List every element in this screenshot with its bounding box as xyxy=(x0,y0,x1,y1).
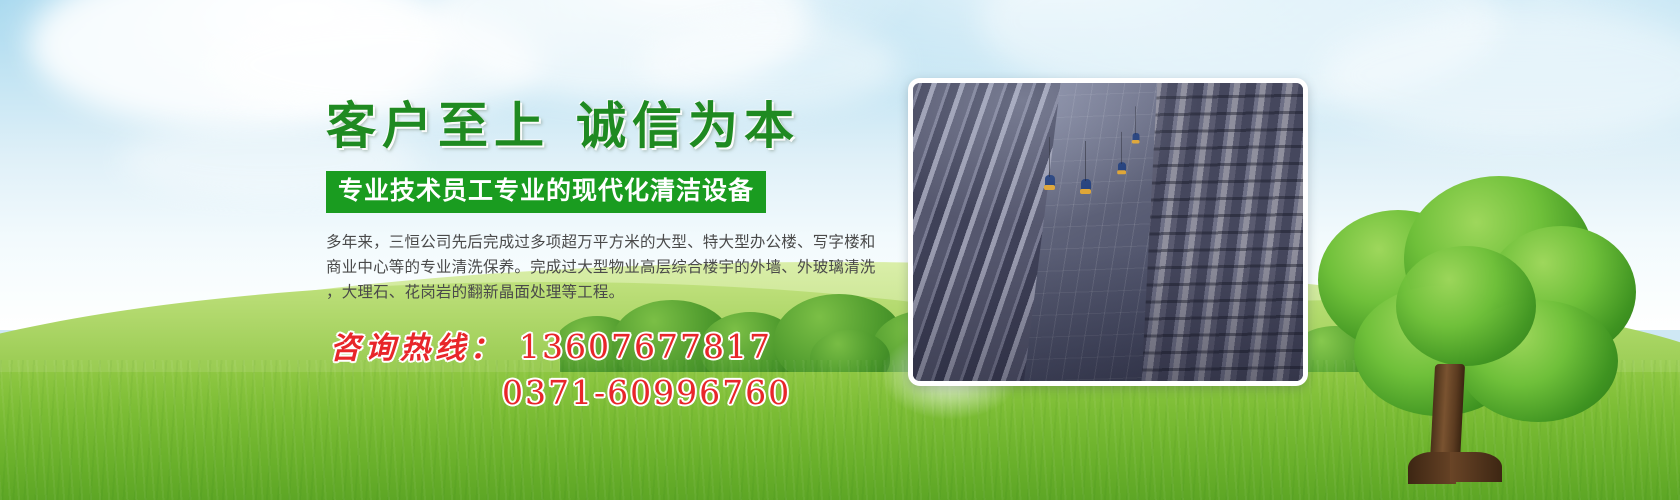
building-photo xyxy=(913,83,1303,381)
big-tree xyxy=(1300,168,1630,488)
body-line-2: 商业中心等的专业清洗保养。完成过大型物业高层综合楼宇的外墙、外玻璃清洗 xyxy=(326,255,886,280)
building-photo-frame xyxy=(908,78,1308,386)
hotline-label: 咨询热线： xyxy=(330,323,505,367)
contact-block: 咨询热线： 13607677817 0371-60996760 xyxy=(330,323,890,412)
tree-canopy xyxy=(1396,246,1536,366)
banner-subtitle-bar: 专业技术员工专业的现代化清洁设备 xyxy=(326,171,766,213)
headline-part-2: 诚信为本 xyxy=(576,96,800,155)
phone-landline[interactable]: 0371-60996760 xyxy=(502,373,791,412)
promo-banner: 客户至上诚信为本 专业技术员工专业的现代化清洁设备 多年来，三恒公司先后完成过多… xyxy=(0,0,1680,500)
banner-body-copy: 多年来，三恒公司先后完成过多项超万平方米的大型、特大型办公楼、写字楼和 商业中心… xyxy=(326,230,886,305)
body-line-1: 多年来，三恒公司先后完成过多项超万平方米的大型、特大型办公楼、写字楼和 xyxy=(326,230,886,255)
banner-headline: 客户至上诚信为本 xyxy=(326,96,906,155)
tree-root-left xyxy=(1408,452,1456,484)
headline-part-1: 客户至上 xyxy=(326,96,550,155)
cloud-shape xyxy=(1320,10,1680,140)
phone-mobile[interactable]: 13607677817 xyxy=(519,327,772,366)
photo-sheen-overlay xyxy=(913,83,1303,381)
body-line-3: ，大理石、花岗岩的翻新晶面处理等工程。 xyxy=(326,280,886,305)
tree-root-right xyxy=(1450,452,1502,482)
banner-text-block: 客户至上诚信为本 专业技术员工专业的现代化清洁设备 多年来，三恒公司先后完成过多… xyxy=(326,96,906,305)
contact-line-secondary: 0371-60996760 xyxy=(330,373,890,412)
contact-line-primary: 咨询热线： 13607677817 xyxy=(330,323,890,367)
